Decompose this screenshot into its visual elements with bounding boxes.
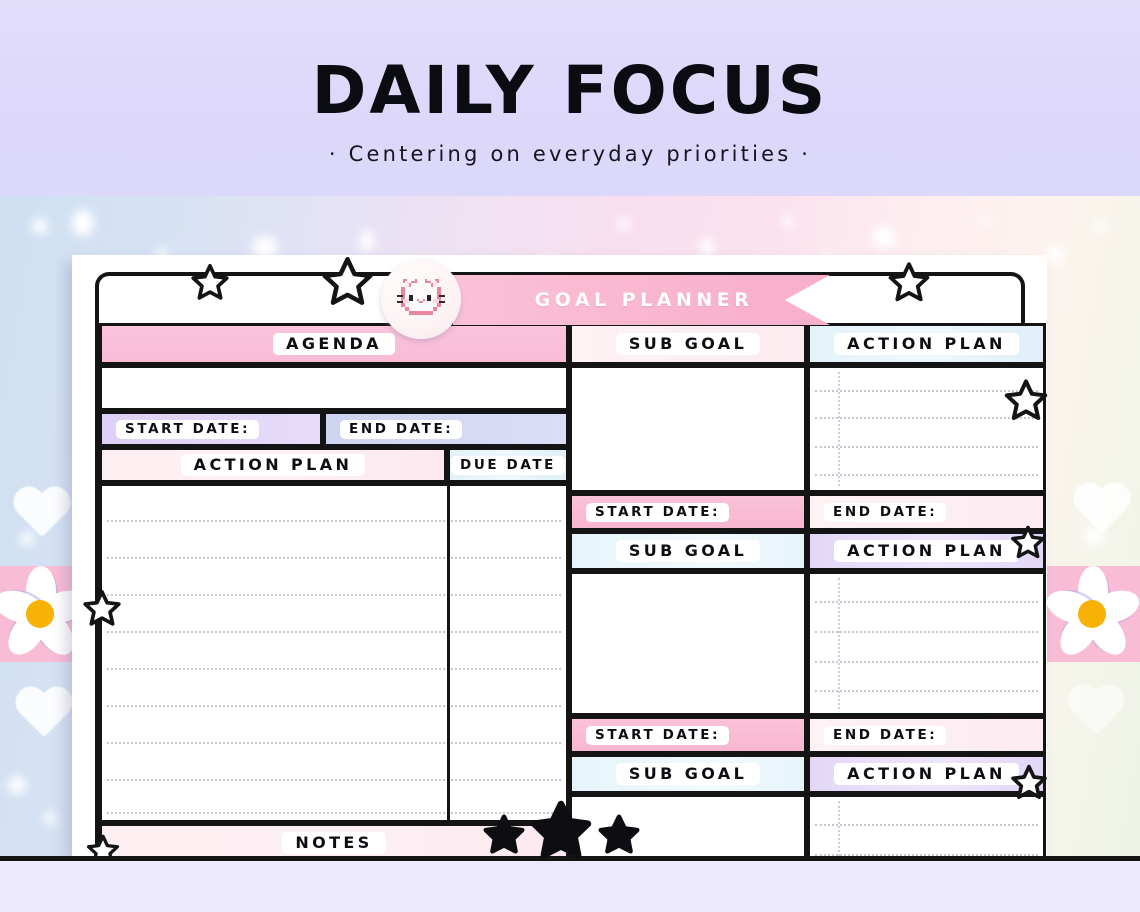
heart-icon — [12, 488, 70, 542]
goal-planner-ribbon: GOAL PLANNER — [453, 275, 830, 325]
sub-goal-header-2: SUB GOAL — [569, 531, 807, 571]
star-outline-icon — [1002, 377, 1050, 425]
start-date-field-1[interactable]: START DATE: — [569, 493, 807, 531]
page-title: DAILY FOCUS — [0, 52, 1140, 129]
end-date-label: END DATE: — [824, 726, 946, 745]
bokeh-dot — [1094, 220, 1106, 232]
heart-icon — [14, 688, 72, 742]
action-plan-header: ACTION PLAN — [99, 447, 447, 483]
action-plan-label: ACTION PLAN — [181, 454, 366, 476]
bokeh-dot — [980, 216, 990, 226]
left-end-date-field[interactable]: END DATE: — [323, 411, 569, 447]
flower-band-right — [1044, 566, 1140, 662]
sub-goal-header-3: SUB GOAL — [569, 754, 807, 794]
bokeh-dot — [32, 218, 48, 234]
daisy-flower-icon — [1040, 564, 1140, 664]
star-solid-icon — [530, 800, 592, 862]
action-plan-header-1: ACTION PLAN — [807, 323, 1046, 365]
ribbon-label: GOAL PLANNER — [453, 275, 783, 325]
sub-goal-header-1: SUB GOAL — [569, 323, 807, 365]
bokeh-dot — [1046, 246, 1064, 264]
bokeh-dot — [700, 238, 714, 256]
ruled-lines — [810, 574, 1043, 713]
agenda-label: AGENDA — [273, 333, 395, 355]
bokeh-dot — [360, 230, 374, 252]
star-outline-icon — [85, 833, 121, 856]
column-divider — [447, 486, 450, 820]
action-plan-table[interactable] — [99, 483, 569, 823]
star-solid-icon — [598, 814, 640, 856]
planner-screenshot: DAILY FOCUS · Centering on everyday prio… — [0, 0, 1140, 912]
star-outline-icon — [319, 254, 376, 311]
heart-icon — [1072, 484, 1130, 538]
star-outline-icon — [1009, 763, 1049, 803]
start-date-label: START DATE: — [586, 726, 729, 745]
action-plan-body-3[interactable] — [807, 794, 1046, 856]
star-outline-icon — [189, 262, 231, 304]
notes-label: NOTES — [282, 832, 385, 854]
end-date-label: END DATE: — [824, 503, 946, 522]
start-date-label: START DATE: — [116, 420, 259, 439]
sub-goal-body-2[interactable] — [569, 571, 807, 716]
star-solid-icon — [483, 814, 525, 856]
star-outline-icon — [886, 260, 932, 306]
action-plan-body-2[interactable] — [807, 571, 1046, 716]
sub-goal-label: SUB GOAL — [616, 333, 760, 355]
bottom-divider-bar — [0, 856, 1140, 912]
agenda-body — [99, 365, 569, 411]
start-date-label: START DATE: — [586, 503, 729, 522]
sub-goal-label: SUB GOAL — [616, 540, 760, 562]
planner-card: GOAL PLANNER — [72, 255, 1047, 856]
daisy-center — [26, 600, 54, 628]
due-date-header: DUE DATE — [447, 447, 569, 483]
action-plan-label: ACTION PLAN — [834, 333, 1019, 355]
bokeh-dot — [782, 216, 793, 227]
ruled-lines — [102, 486, 566, 820]
heart-icon — [1066, 686, 1124, 740]
daisy-center — [1078, 600, 1106, 628]
ruled-lines — [810, 797, 1043, 856]
action-plan-label: ACTION PLAN — [834, 540, 1019, 562]
star-outline-icon — [81, 588, 123, 630]
bokeh-dot — [72, 210, 94, 236]
sub-goal-label: SUB GOAL — [616, 763, 760, 785]
bokeh-dot — [44, 812, 56, 824]
bokeh-dot — [8, 776, 26, 794]
bokeh-dot — [618, 218, 630, 230]
agenda-header: AGENDA — [99, 323, 569, 365]
star-outline-icon — [1009, 524, 1047, 562]
due-date-label: DUE DATE — [451, 456, 565, 475]
start-date-field-2[interactable]: START DATE: — [569, 716, 807, 754]
page-subtitle: · Centering on everyday priorities · — [0, 142, 1140, 166]
sub-goal-body-1[interactable] — [569, 365, 807, 493]
end-date-field-2[interactable]: END DATE: — [807, 716, 1046, 754]
action-plan-label: ACTION PLAN — [834, 763, 1019, 785]
pixel-cat-icon — [381, 259, 461, 339]
bokeh-dot — [872, 226, 896, 248]
background-scene: GOAL PLANNER — [0, 196, 1140, 856]
header-banner: DAILY FOCUS · Centering on everyday prio… — [0, 0, 1140, 196]
left-start-date-field[interactable]: START DATE: — [99, 411, 323, 447]
end-date-label: END DATE: — [340, 420, 462, 439]
